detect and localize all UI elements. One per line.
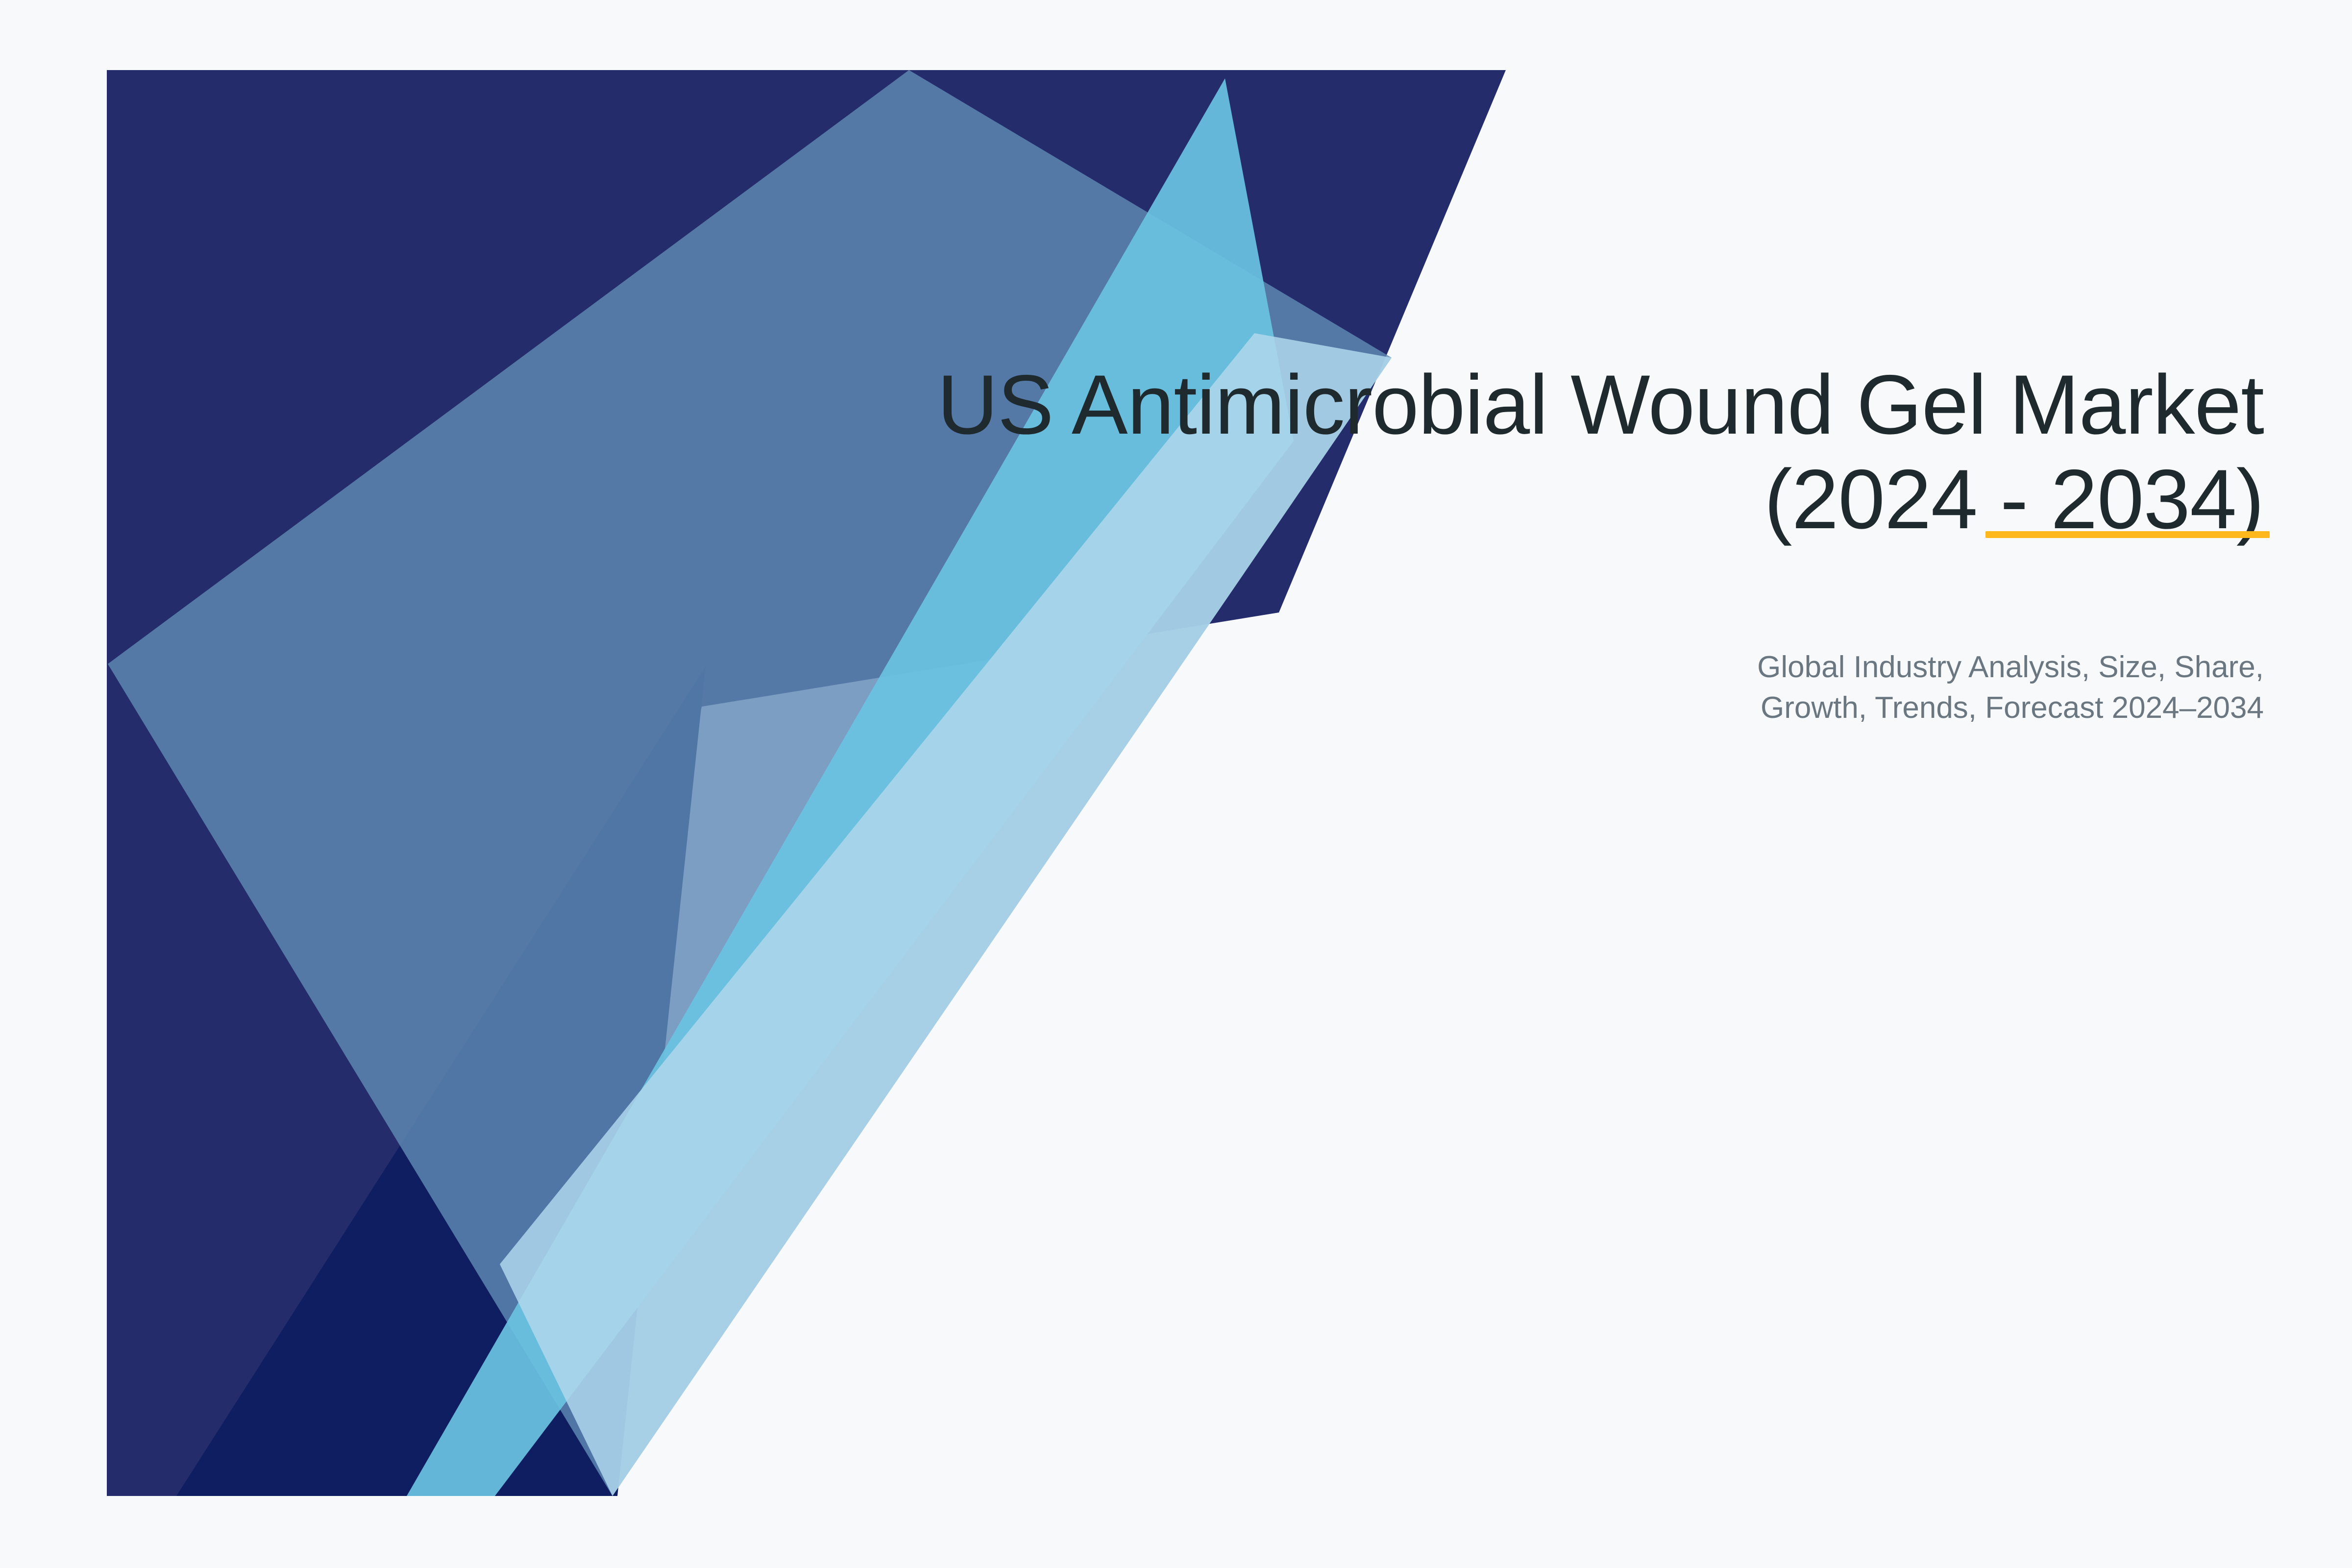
page-title: US Antimicrobial Wound Gel Market (2024 … (833, 358, 2264, 546)
cover-artwork (0, 0, 2352, 1568)
page-subtitle: Global Industry Analysis, Size, Share, G… (1274, 647, 2264, 728)
title-block: US Antimicrobial Wound Gel Market (2024 … (833, 358, 2264, 546)
accent-underline (1985, 531, 2270, 538)
report-cover-page: US Antimicrobial Wound Gel Market (2024 … (0, 0, 2352, 1568)
